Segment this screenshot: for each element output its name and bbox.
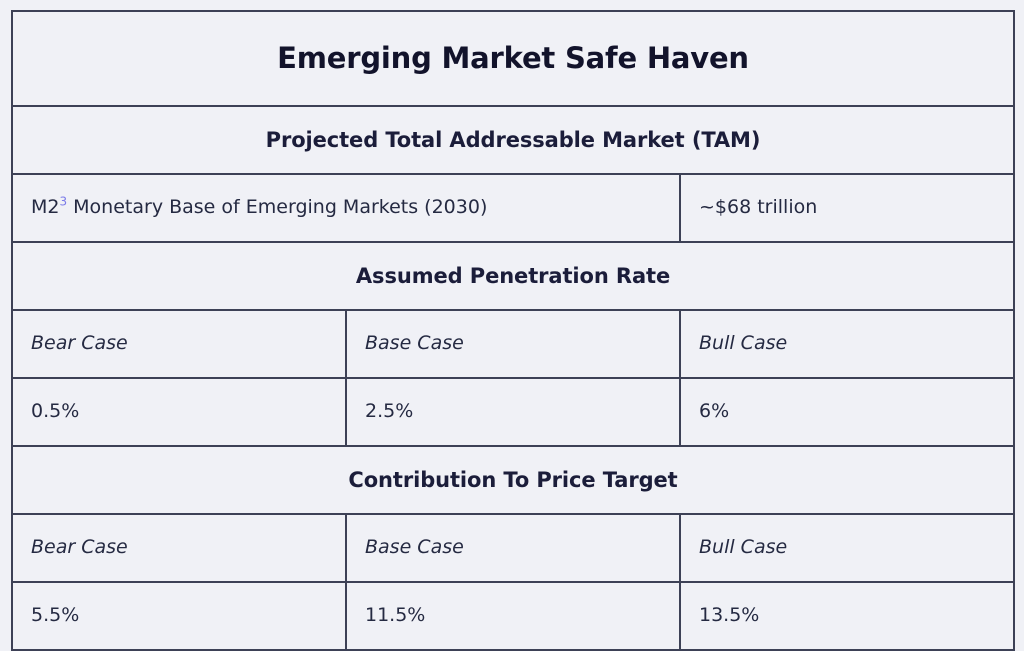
- contribution-value-base: 11.5%: [365, 604, 661, 628]
- penetration-heading-row: Assumed Penetration Rate: [12, 242, 1014, 310]
- penetration-case-base-cell: Base Case: [346, 310, 680, 378]
- contribution-case-bull-cell: Bull Case: [680, 514, 1014, 582]
- contribution-case-base-cell: Base Case: [346, 514, 680, 582]
- tam-heading-row: Projected Total Addressable Market (TAM): [12, 106, 1014, 174]
- penetration-case-bull-cell: Bull Case: [680, 310, 1014, 378]
- contribution-case-bear-cell: Bear Case: [12, 514, 346, 582]
- section-heading-penetration: Assumed Penetration Rate: [29, 264, 997, 288]
- penetration-value-bull-cell: 6%: [680, 378, 1014, 446]
- penetration-value-bear: 0.5%: [31, 400, 327, 424]
- financial-table-container: Emerging Market Safe Haven Projected Tot…: [11, 10, 1013, 641]
- contribution-case-bull-label: Bull Case: [699, 536, 995, 560]
- penetration-case-bear-cell: Bear Case: [12, 310, 346, 378]
- tam-value-cell: ~$68 trillion: [680, 174, 1014, 242]
- table-title-cell: Emerging Market Safe Haven: [12, 11, 1014, 106]
- contribution-value-bear: 5.5%: [31, 604, 327, 628]
- penetration-case-bear-label: Bear Case: [31, 332, 327, 356]
- tam-heading-cell: Projected Total Addressable Market (TAM): [12, 106, 1014, 174]
- tam-data-row: M23 Monetary Base of Emerging Markets (2…: [12, 174, 1014, 242]
- penetration-case-base-label: Base Case: [365, 332, 661, 356]
- penetration-value-bear-cell: 0.5%: [12, 378, 346, 446]
- contribution-value-bull-cell: 13.5%: [680, 582, 1014, 650]
- section-heading-tam: Projected Total Addressable Market (TAM): [29, 128, 997, 152]
- tam-label: M23 Monetary Base of Emerging Markets (2…: [31, 196, 661, 220]
- tam-label-prefix: M2: [31, 196, 59, 218]
- penetration-value-row: 0.5% 2.5% 6%: [12, 378, 1014, 446]
- footnote-ref-icon: 3: [59, 195, 67, 209]
- contribution-case-bear-label: Bear Case: [31, 536, 327, 560]
- penetration-case-label-row: Bear Case Base Case Bull Case: [12, 310, 1014, 378]
- tam-value: ~$68 trillion: [699, 196, 995, 220]
- penetration-value-base-cell: 2.5%: [346, 378, 680, 446]
- contribution-case-label-row: Bear Case Base Case Bull Case: [12, 514, 1014, 582]
- tam-label-suffix: Monetary Base of Emerging Markets (2030): [67, 196, 487, 218]
- contribution-value-row: 5.5% 11.5% 13.5%: [12, 582, 1014, 650]
- contribution-value-base-cell: 11.5%: [346, 582, 680, 650]
- contribution-value-bull: 13.5%: [699, 604, 995, 628]
- page-title: Emerging Market Safe Haven: [29, 43, 997, 75]
- tam-label-cell: M23 Monetary Base of Emerging Markets (2…: [12, 174, 680, 242]
- penetration-value-bull: 6%: [699, 400, 995, 424]
- table-title-row: Emerging Market Safe Haven: [12, 11, 1014, 106]
- emerging-market-safe-haven-table: Emerging Market Safe Haven Projected Tot…: [11, 10, 1015, 651]
- section-heading-contribution: Contribution To Price Target: [29, 468, 997, 492]
- penetration-heading-cell: Assumed Penetration Rate: [12, 242, 1014, 310]
- contribution-case-base-label: Base Case: [365, 536, 661, 560]
- contribution-value-bear-cell: 5.5%: [12, 582, 346, 650]
- contribution-heading-row: Contribution To Price Target: [12, 446, 1014, 514]
- contribution-heading-cell: Contribution To Price Target: [12, 446, 1014, 514]
- penetration-value-base: 2.5%: [365, 400, 661, 424]
- penetration-case-bull-label: Bull Case: [699, 332, 995, 356]
